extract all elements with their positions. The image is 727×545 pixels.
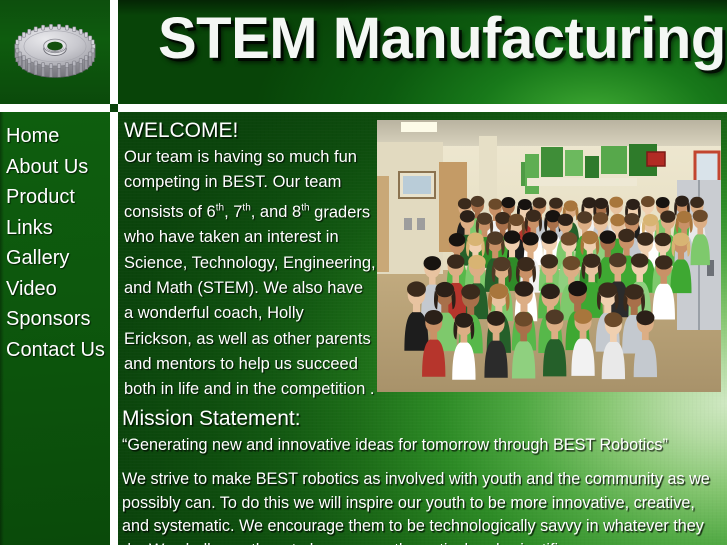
grade-mid-2: , and 8 — [251, 203, 301, 221]
main-navigation: Home About Us Product Links Gallery Vide… — [0, 112, 110, 545]
gear-icon — [8, 5, 102, 99]
main-content: WELCOME! Our team is having so much fun … — [118, 112, 727, 545]
welcome-paragraph: Our team is having so much fun competing… — [124, 145, 376, 402]
sidebar-item-sponsors[interactable]: Sponsors — [0, 304, 110, 335]
group-photo-people — [377, 120, 721, 392]
sidebar-item-gallery[interactable]: Gallery — [0, 243, 110, 274]
page-title: STEM Manufacturing — [158, 5, 726, 72]
divider-vertical-header — [110, 0, 118, 104]
welcome-grades: consists of 6th, 7th, and 8th — [124, 203, 314, 221]
welcome-heading: WELCOME! — [124, 118, 376, 144]
sidebar-item-about-us[interactable]: About Us — [0, 152, 110, 183]
title-panel: STEM Manufacturing — [118, 0, 727, 104]
grade-sup-1: th — [216, 203, 224, 214]
divider-horizontal-left — [0, 104, 110, 112]
page-root: STEM Manufacturing Home About Us Product… — [0, 0, 727, 545]
team-group-photo — [377, 120, 721, 392]
sidebar-item-links[interactable]: Links — [0, 213, 110, 244]
logo-panel — [0, 0, 110, 104]
welcome-column: WELCOME! Our team is having so much fun … — [124, 118, 376, 402]
mission-quote: “Generating new and innovative ideas for… — [122, 434, 722, 456]
grade-mid-1: , 7 — [224, 203, 242, 221]
mission-paragraph: We strive to make BEST robotics as invol… — [122, 468, 722, 545]
welcome-text-part1: Our team is having so much fun competing… — [124, 148, 357, 191]
divider-horizontal-right — [118, 104, 727, 112]
sidebar-item-home[interactable]: Home — [0, 121, 110, 152]
grade-sup-2: th — [242, 203, 250, 214]
grade-prefix: consists of 6 — [124, 203, 216, 221]
sidebar-item-video[interactable]: Video — [0, 274, 110, 305]
mission-heading: Mission Statement: — [122, 406, 722, 432]
mission-section: Mission Statement: “Generating new and i… — [122, 406, 722, 545]
sidebar-item-product[interactable]: Product — [0, 182, 110, 213]
sidebar-item-contact-us[interactable]: Contact Us — [0, 335, 110, 366]
welcome-text-part2: graders who have taken an interest in Sc… — [124, 203, 376, 398]
divider-vertical-body — [110, 112, 118, 545]
grade-sup-3: th — [301, 203, 309, 214]
